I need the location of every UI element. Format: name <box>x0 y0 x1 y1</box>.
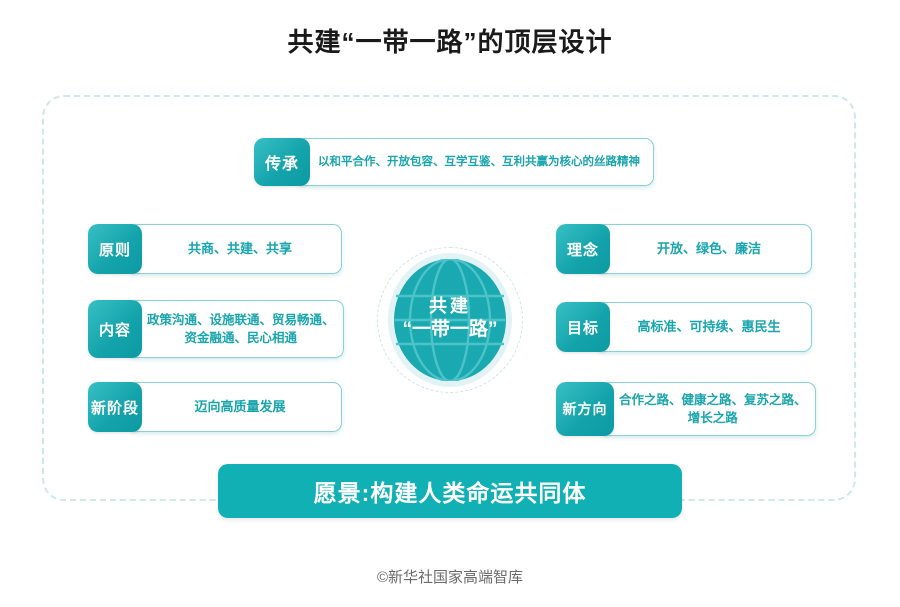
card-text-line: 资金融通、民心相通 <box>147 329 335 347</box>
vision-banner: 愿景:构建人类命运共同体 <box>218 464 682 518</box>
center-globe: 共建 “一带一路” <box>372 245 528 395</box>
card-body-linian: 开放、绿色、廉洁 <box>596 224 812 274</box>
chip-label-linian: 理念 <box>556 224 610 274</box>
page-title: 共建“一带一路”的顶层设计 <box>0 22 900 59</box>
card-mubiao: 目标 高标准、可持续、惠民生 <box>556 302 812 352</box>
chip-label-mubiao: 目标 <box>556 302 610 352</box>
card-linian: 理念 开放、绿色、廉洁 <box>556 224 812 274</box>
globe-label: 共建 “一带一路” <box>372 295 528 341</box>
globe-label-line1: 共建 <box>372 295 528 318</box>
chip-label-xinfangxiang: 新方向 <box>556 382 614 436</box>
chip-label-yuanze: 原则 <box>88 224 142 274</box>
card-text-line: 开放、绿色、廉洁 <box>657 240 761 259</box>
footer-credit: ©新华社国家高端智库 <box>0 566 900 587</box>
card-xinfangxiang: 新方向 合作之路、健康之路、复苏之路、 增长之路 <box>556 382 812 436</box>
chip-label-neirong: 内容 <box>88 300 142 358</box>
card-text-line: 以和平合作、开放包容、互学互鉴、互利共赢为核心的丝路精神 <box>318 154 640 171</box>
card-yuanze: 原则 共商、共建、共享 <box>88 224 342 274</box>
card-body-xinfangxiang: 合作之路、健康之路、复苏之路、 增长之路 <box>600 382 816 436</box>
card-xinjieduan: 新阶段 迈向高质量发展 <box>88 382 342 432</box>
card-text-line: 合作之路、健康之路、复苏之路、 <box>619 391 807 409</box>
card-text-line: 共商、共建、共享 <box>188 240 292 259</box>
card-text-line: 政策沟通、设施联通、贸易畅通、 <box>147 311 335 329</box>
globe-label-line2: “一带一路” <box>372 318 528 342</box>
card-chuancheng: 传承 以和平合作、开放包容、互学互鉴、互利共赢为核心的丝路精神 <box>254 138 654 186</box>
card-body-xinjieduan: 迈向高质量发展 <box>128 382 342 432</box>
card-body-chuancheng: 以和平合作、开放包容、互学互鉴、互利共赢为核心的丝路精神 <box>296 138 654 186</box>
card-body-mubiao: 高标准、可持续、惠民生 <box>596 302 812 352</box>
card-neirong: 内容 政策沟通、设施联通、贸易畅通、 资金融通、民心相通 <box>88 300 342 358</box>
card-text-line: 高标准、可持续、惠民生 <box>637 318 780 337</box>
card-body-yuanze: 共商、共建、共享 <box>128 224 342 274</box>
card-text-line: 迈向高质量发展 <box>194 398 285 417</box>
card-body-neirong: 政策沟通、设施联通、贸易畅通、 资金融通、民心相通 <box>128 300 344 358</box>
chip-label-xinjieduan: 新阶段 <box>88 382 142 432</box>
chip-label-chuancheng: 传承 <box>254 138 310 186</box>
card-text-line: 增长之路 <box>619 409 807 427</box>
